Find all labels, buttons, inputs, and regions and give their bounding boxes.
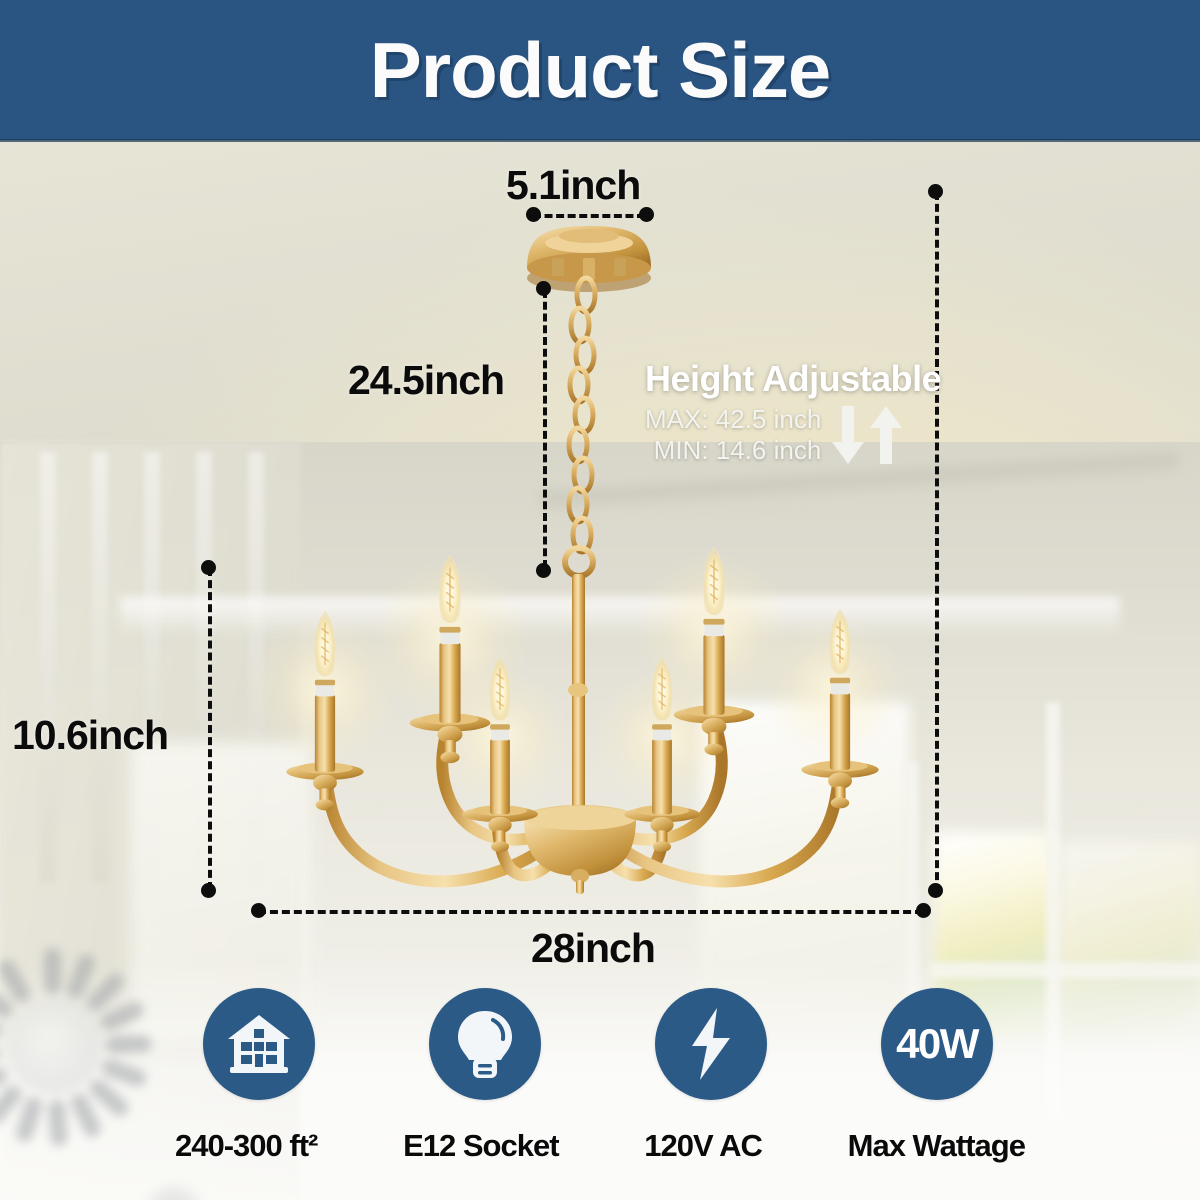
height-adjustable-callout: Height Adjustable MAX: 42.5 inch MIN: 14…	[645, 358, 941, 466]
dimension-label-chain-drop: 24.5inch	[348, 357, 504, 404]
dimension-line-right-reference	[935, 192, 939, 892]
height-adjustable-max: MAX: 42.5 inch	[645, 404, 821, 435]
house-icon	[224, 1009, 294, 1079]
lightning-bolt-icon	[686, 1006, 736, 1082]
dimension-label-fixture-height: 10.6inch	[12, 712, 168, 759]
spec-caption-voltage: 120V AC	[644, 1128, 762, 1164]
dimension-label-canopy-width: 5.1inch	[506, 162, 640, 209]
spec-badge-wattage[interactable]: 40W	[881, 988, 993, 1100]
height-adjustable-title: Height Adjustable	[645, 358, 941, 400]
light-bulb-icon	[453, 1008, 517, 1080]
spec-caption-wattage: Max Wattage	[848, 1128, 1025, 1164]
arrow-down-icon	[831, 404, 865, 466]
dimension-line-canopy-width	[533, 214, 645, 218]
dimension-endpoint-dot	[536, 563, 551, 578]
spec-badge-room-size[interactable]	[203, 988, 315, 1100]
dimension-label-fixture-width: 28inch	[531, 925, 655, 972]
dimension-endpoint-dot	[928, 883, 943, 898]
arrow-up-icon	[869, 404, 903, 466]
dimension-line-fixture-height	[208, 568, 212, 890]
height-adjustable-min: MIN: 14.6 inch	[645, 435, 821, 466]
dimension-endpoint-dot	[201, 560, 216, 575]
dimension-endpoint-dot	[928, 184, 943, 199]
product-size-infographic: 5.1inch 24.5inch 10.6inch 28inch Height …	[0, 0, 1200, 1200]
spec-badge-socket[interactable]	[429, 988, 541, 1100]
dimension-line-chain-drop	[543, 290, 547, 568]
spec-badge-voltage[interactable]	[655, 988, 767, 1100]
dimension-endpoint-dot	[916, 903, 931, 918]
wattage-text-icon: 40W	[896, 1020, 978, 1068]
header-band: Product Size	[0, 0, 1200, 140]
dimension-endpoint-dot	[201, 883, 216, 898]
spec-caption-socket: E12 Socket	[403, 1128, 558, 1164]
dimension-endpoint-dot	[536, 281, 551, 296]
dimension-endpoint-dot	[639, 207, 654, 222]
dimension-endpoint-dot	[526, 207, 541, 222]
page-title: Product Size	[370, 25, 830, 116]
dimension-endpoint-dot	[251, 903, 266, 918]
header-divider	[0, 139, 1200, 142]
spec-caption-room-size: 240-300 ft²	[175, 1128, 317, 1164]
dimension-line-fixture-width	[258, 910, 923, 914]
